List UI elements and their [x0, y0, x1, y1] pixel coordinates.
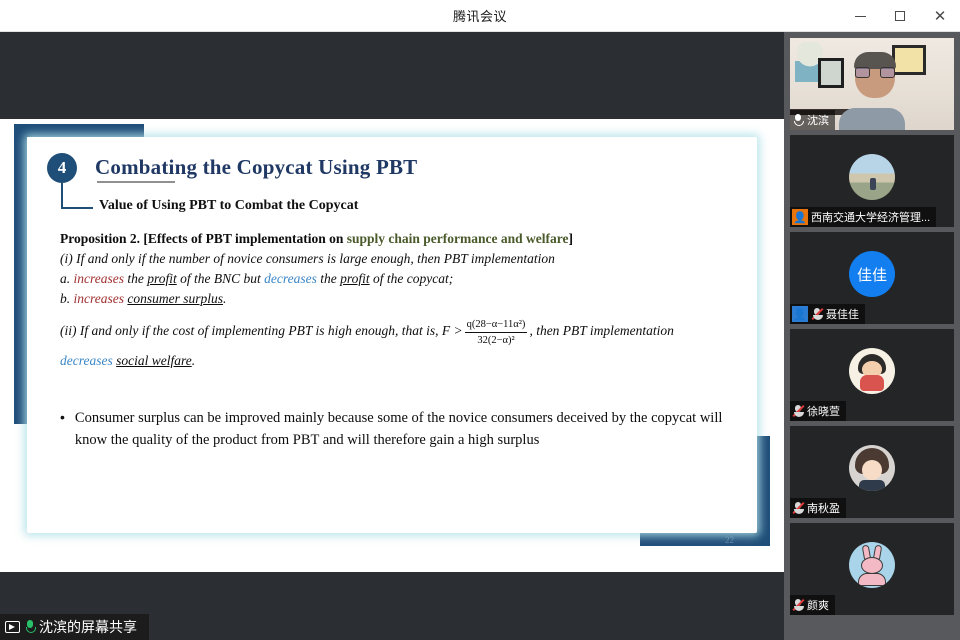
slide-title: Combating the Copycat Using PBT [95, 155, 417, 180]
mic-muted-icon [811, 307, 823, 321]
proposition-heading-prefix: Proposition 2. [Effects of PBT implement… [60, 231, 347, 246]
line-a-mid2: of the BNC but [177, 271, 264, 286]
line-ii-prefix: (ii) If and only if the cost of implemen… [60, 323, 463, 338]
window-title: 腾讯会议 [453, 6, 507, 25]
line-a-marker: a. [60, 271, 74, 286]
line-ii-decreases: decreases [60, 353, 113, 368]
slide-canvas: 22 4 Combating the Copycat Using PBT Val… [0, 119, 784, 572]
minimize-button[interactable] [840, 0, 880, 32]
participant-rail[interactable]: 沈滨 👤 西南交通大学经济管理... 佳佳 👤 聂佳佳 [784, 32, 960, 640]
line-ii-term: social welfare [116, 353, 192, 368]
participant-tile-1[interactable]: 沈滨 [790, 38, 954, 130]
person-body [839, 108, 905, 130]
maximize-icon [895, 11, 905, 21]
proposition-line-ii: (ii) If and only if the cost of implemen… [60, 317, 730, 374]
formula-numerator: q(28−α−11α²) [465, 318, 528, 333]
slide-frame-right [757, 436, 770, 546]
line-b-tail: . [223, 291, 226, 306]
slide-frame-left [14, 124, 27, 424]
participant-tile-6[interactable]: 颜爽 [790, 523, 954, 615]
mic-icon [792, 113, 804, 127]
avatar: 佳佳 [849, 251, 895, 297]
proposition-line-b: b. increases consumer surplus. [60, 289, 730, 309]
line-b-marker: b. [60, 291, 74, 306]
threshold-formula: q(28−α−11α²)32(2−α)² [465, 318, 528, 347]
screen-share-icon [5, 621, 20, 633]
bullet-text: Consumer surplus can be improved mainly … [75, 407, 750, 452]
mic-muted-icon [792, 404, 804, 418]
participant-name-3: 聂佳佳 [826, 306, 859, 322]
mic-muted-icon [792, 501, 804, 515]
close-button[interactable]: ✕ [920, 0, 960, 32]
maximize-button[interactable] [880, 0, 920, 32]
picture-frame-right [892, 45, 926, 75]
participant-name-strip-3: 👤 聂佳佳 [790, 304, 865, 324]
slide-section-number: 4 [47, 153, 77, 183]
participant-tile-2[interactable]: 👤 西南交通大学经济管理... [790, 135, 954, 227]
picture-frame-left [818, 58, 844, 88]
line-a-decreases: decreases [264, 271, 317, 286]
line-ii-end: . [192, 353, 195, 368]
shared-screen-stage[interactable]: 22 4 Combating the Copycat Using PBT Val… [0, 32, 784, 640]
formula-denominator: 32(2−α)² [465, 333, 528, 347]
participant-name-6: 颜爽 [807, 597, 829, 613]
meeting-window: 腾讯会议 ✕ 22 [0, 0, 960, 640]
participant-name-strip-5: 南秋盈 [790, 498, 846, 518]
user-badge-icon: 👤 [792, 306, 808, 322]
screen-share-status: 沈滨的屏幕共享 [0, 614, 149, 640]
line-a-profit-2: profit [340, 271, 370, 286]
slide-page-number: 22 [725, 535, 734, 545]
participant-name-1: 沈滨 [807, 112, 829, 128]
slide-subtitle: Value of Using PBT to Combat the Copycat [99, 198, 358, 214]
title-bar: 腾讯会议 ✕ [0, 0, 960, 32]
proposition-line-a: a. increases the profit of the BNC but d… [60, 269, 730, 289]
connector-horizontal [61, 207, 93, 209]
bullet-marker: • [60, 407, 65, 452]
line-a-mid1: the [124, 271, 147, 286]
line-b-increases: increases [74, 291, 125, 306]
host-badge-icon: 👤 [792, 209, 808, 225]
participant-tile-5[interactable]: 南秋盈 [790, 426, 954, 518]
line-a-mid3: the [317, 271, 340, 286]
participant-name-strip-4: 徐晓萱 [790, 401, 846, 421]
avatar [849, 154, 895, 200]
bullet-list: • Consumer surplus can be improved mainl… [60, 407, 750, 452]
mic-active-icon [25, 620, 34, 634]
proposition-heading: Proposition 2. [Effects of PBT implement… [60, 229, 730, 249]
title-underline [97, 181, 175, 183]
slide-frame-top [14, 124, 144, 137]
presentation-slide: 22 4 Combating the Copycat Using PBT Val… [14, 124, 770, 546]
proposition-line-i: (i) If and only if the number of novice … [60, 249, 730, 269]
participant-name-strip-6: 颜爽 [790, 595, 835, 615]
slide-content-area: 4 Combating the Copycat Using PBT Value … [27, 137, 757, 533]
line-a-profit-1: profit [147, 271, 177, 286]
minimize-icon [855, 16, 866, 17]
proposition-heading-highlight: supply chain performance and welfare [347, 231, 569, 246]
window-controls: ✕ [840, 0, 960, 32]
glasses-icon [855, 67, 895, 78]
line-a-tail: of the copycat; [370, 271, 454, 286]
screen-share-label: 沈滨的屏幕共享 [39, 617, 137, 637]
participant-tile-4[interactable]: 徐晓萱 [790, 329, 954, 421]
avatar [849, 445, 895, 491]
close-icon: ✕ [934, 9, 947, 24]
proposition-heading-suffix: ] [569, 231, 574, 246]
avatar [849, 348, 895, 394]
avatar [849, 542, 895, 588]
connector-vertical [61, 183, 63, 209]
slide-body: Proposition 2. [Effects of PBT implement… [60, 229, 730, 374]
participant-name-4: 徐晓萱 [807, 403, 840, 419]
line-a-increases: increases [74, 271, 125, 286]
participant-name-strip-1: 沈滨 [790, 110, 835, 130]
line-b-term: consumer surplus [127, 291, 223, 306]
participant-name-strip-2: 👤 西南交通大学经济管理... [790, 207, 936, 227]
participant-name-2: 西南交通大学经济管理... [811, 209, 930, 225]
participant-tile-3[interactable]: 佳佳 👤 聂佳佳 [790, 232, 954, 324]
mic-muted-icon [792, 598, 804, 612]
line-ii-mid: , then PBT implementation [529, 323, 674, 338]
participant-name-5: 南秋盈 [807, 500, 840, 516]
person-hair [854, 52, 896, 69]
